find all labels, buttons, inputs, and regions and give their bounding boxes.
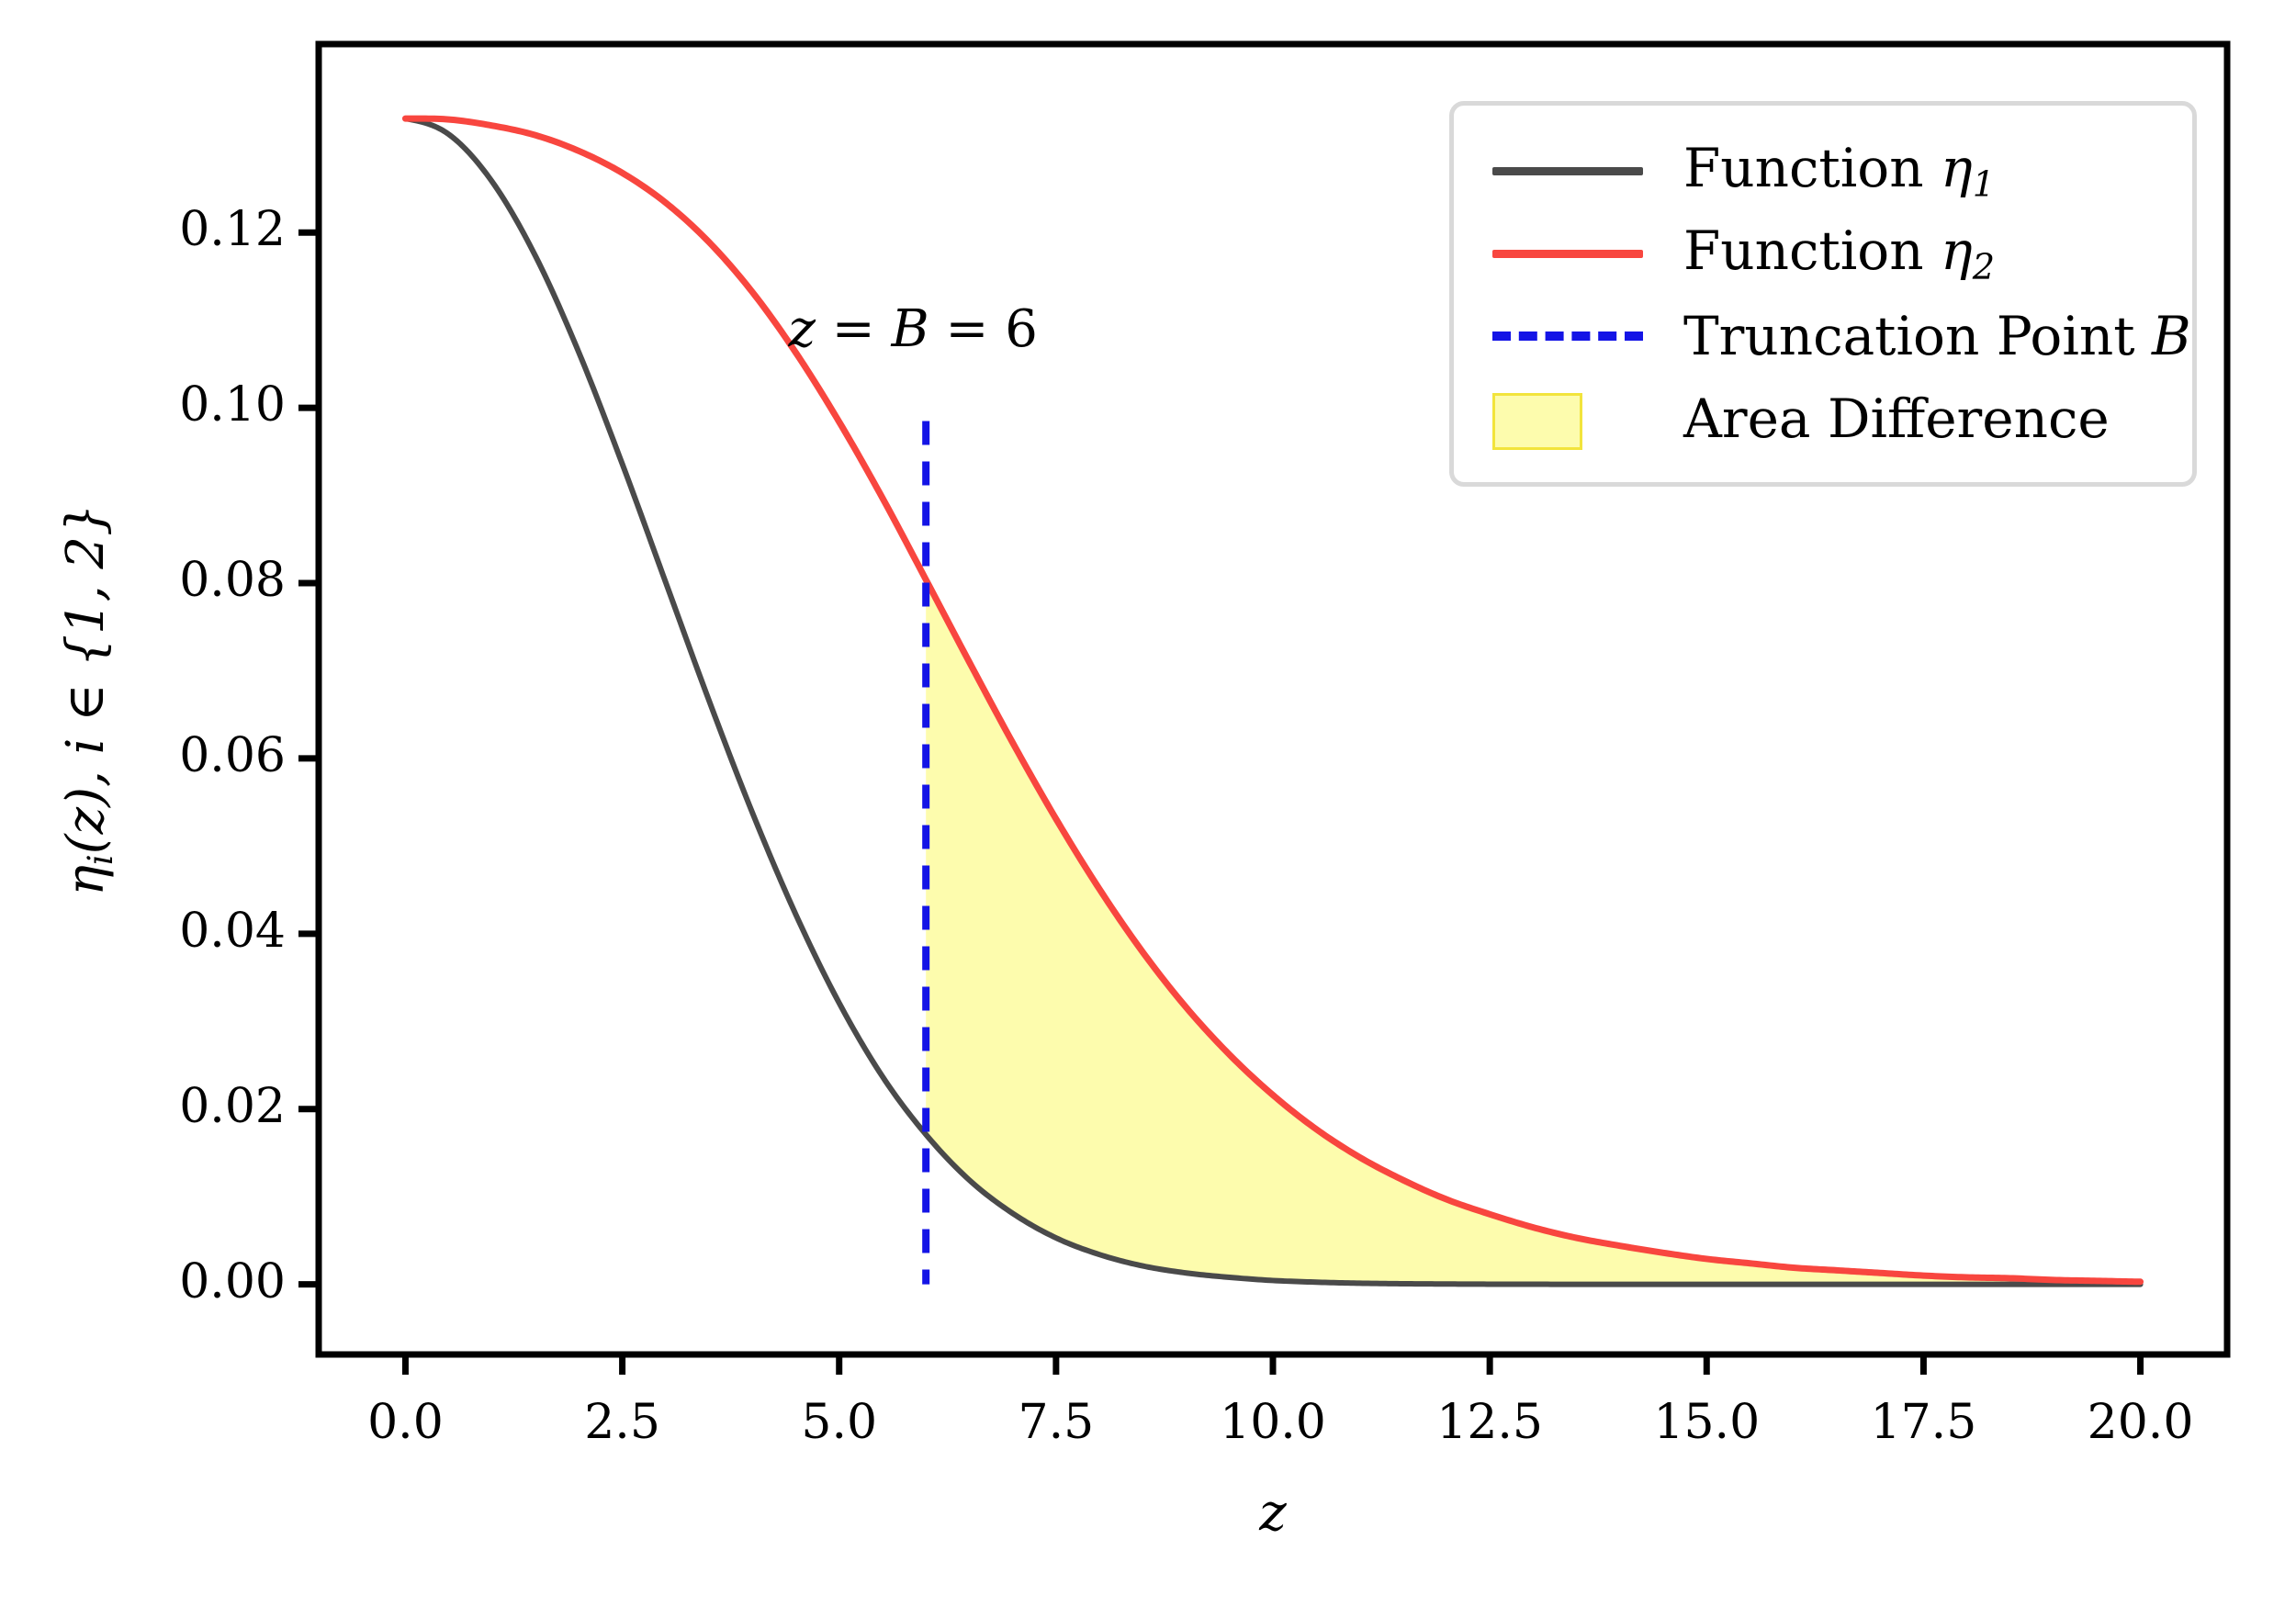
annotation-text: z = B = 6 [788, 299, 1037, 359]
legend-swatch-truncation [1485, 309, 1650, 364]
legend-item-eta1[interactable]: Function η1 [1485, 129, 2165, 212]
y-tick-label: 0.02 [179, 1079, 286, 1134]
y-tick-label: 0.12 [179, 202, 286, 257]
x-tick-label: 20.0 [2021, 1395, 2260, 1450]
x-axis-label: z [1259, 1483, 1287, 1543]
chart-legend[interactable]: Function η1 Function η2 Truncation Point… [1449, 101, 2197, 487]
x-tick-label: 15.0 [1587, 1395, 1826, 1450]
x-tick-label: 7.5 [937, 1395, 1176, 1450]
legend-label-eta1: Function η1 [1683, 137, 1995, 206]
x-tick-label: 2.5 [503, 1395, 742, 1450]
legend-swatch-area [1485, 391, 1650, 446]
x-tick-label: 12.5 [1370, 1395, 1609, 1450]
legend-label-truncation: Truncation Point B [1683, 305, 2191, 367]
legend-item-eta2[interactable]: Function η2 [1485, 212, 2165, 295]
legend-label-eta2: Function η2 [1683, 219, 1995, 288]
annotation-eq1: = [816, 299, 892, 359]
ylabel-membership: , i ∈ {1, 2} [56, 503, 116, 787]
y-tick-label: 0.00 [179, 1254, 286, 1309]
annotation-eq2: = [929, 299, 1006, 359]
ylabel-of-z: (z) [56, 787, 116, 854]
x-tick-label: 0.0 [286, 1395, 524, 1450]
y-tick-label: 0.10 [179, 377, 286, 433]
x-tick-label: 5.0 [720, 1395, 959, 1450]
y-tick-label: 0.06 [179, 728, 286, 783]
legend-swatch-eta2 [1485, 226, 1650, 281]
truncation-annotation: z = B = 6 [788, 299, 1037, 359]
y-tick-label: 0.08 [179, 553, 286, 608]
annotation-rhs: 6 [1005, 299, 1038, 359]
x-tick-label: 10.0 [1154, 1395, 1392, 1450]
annotation-mid: B [892, 299, 929, 359]
figure-canvas: 0.000.020.040.060.080.100.120.02.55.07.5… [0, 0, 2296, 1607]
legend-item-truncation-point[interactable]: Truncation Point B [1485, 295, 2165, 377]
y-tick-label: 0.04 [179, 904, 286, 959]
legend-swatch-eta1 [1485, 143, 1650, 198]
ylabel-eta: η [56, 865, 116, 896]
xlabel-text: z [1259, 1483, 1287, 1543]
area-difference-fill [926, 579, 2140, 1284]
ylabel-subscript: i [81, 854, 120, 865]
annotation-lhs: z [788, 299, 816, 359]
legend-item-area-difference[interactable]: Area Difference [1485, 377, 2165, 460]
y-axis-label: ηi(z), i ∈ {1, 2} [56, 503, 120, 895]
x-tick-label: 17.5 [1804, 1395, 2043, 1450]
legend-label-area: Area Difference [1683, 388, 2110, 450]
